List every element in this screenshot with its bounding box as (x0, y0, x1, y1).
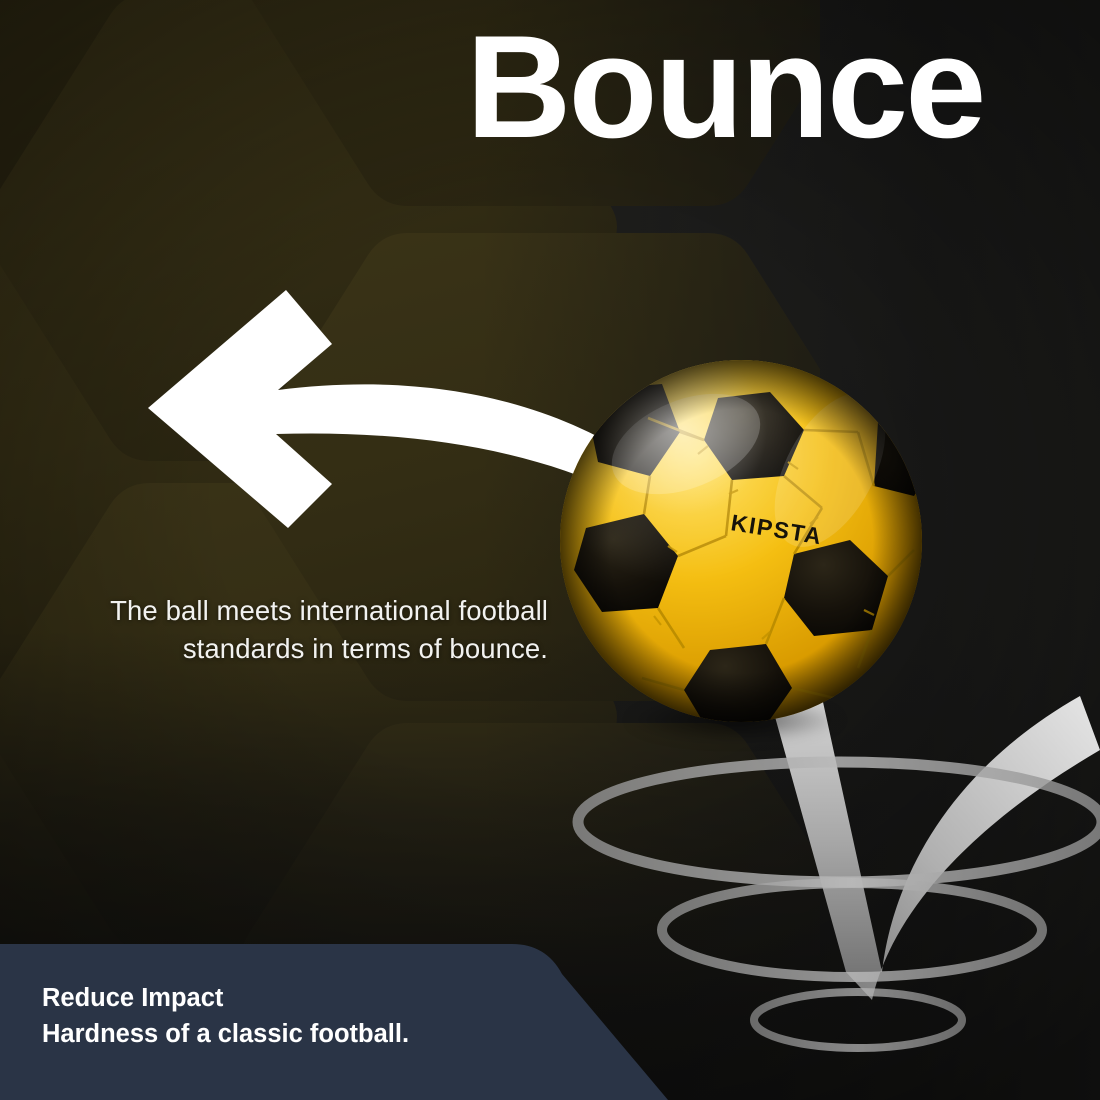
promo-graphic: Bounce (0, 0, 1100, 1100)
page-title: Bounce (466, 14, 983, 160)
description-text: The ball meets international football st… (18, 592, 548, 667)
banner-line-2: Hardness of a classic football. (42, 1016, 409, 1052)
banner-line-1: Reduce Impact (42, 980, 409, 1016)
soccer-ball-icon: KIPSTA (558, 358, 924, 724)
banner-text-block: Reduce Impact Hardness of a classic foot… (42, 980, 409, 1052)
